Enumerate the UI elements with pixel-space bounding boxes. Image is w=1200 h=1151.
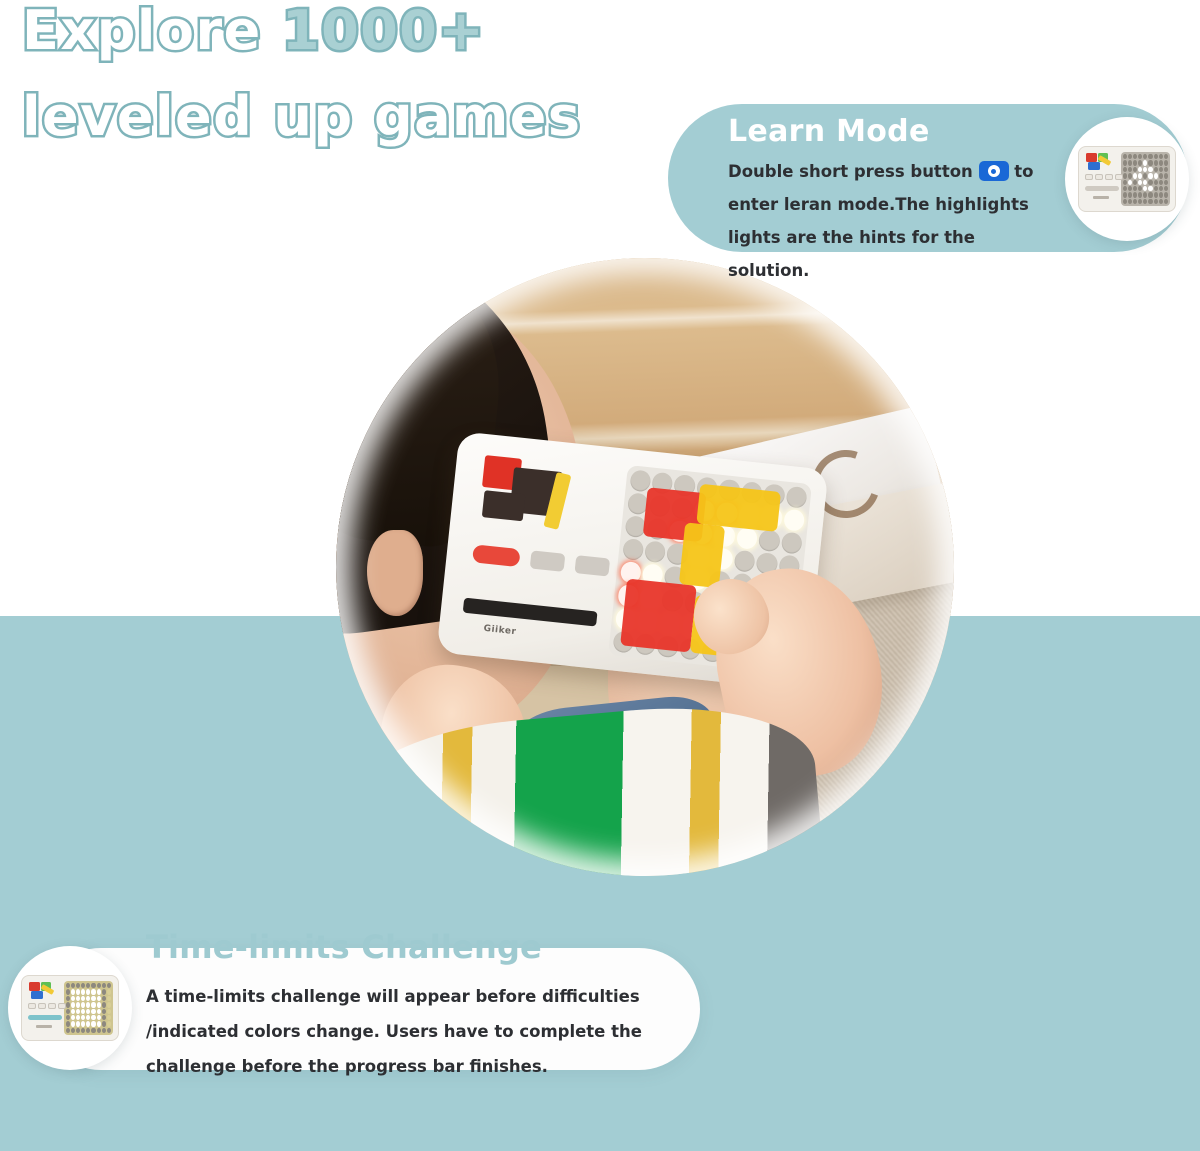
mini-device-keys: [28, 1003, 66, 1009]
device-logo-tiles: [476, 451, 606, 539]
mini-key: [1105, 174, 1113, 180]
mini-key: [28, 1003, 36, 1009]
mini-progress-bar: [28, 1015, 62, 1020]
circle-dot-icon: [979, 161, 1009, 181]
mini-key: [1085, 174, 1093, 180]
poster-stage: Explore 1000+ leveled up games: [0, 0, 1200, 1151]
headline-prefix: Explore: [22, 0, 282, 62]
device-buttons: [472, 544, 629, 578]
learn-mode-title: Learn Mode: [728, 114, 930, 149]
mini-key: [1115, 174, 1123, 180]
device-button-1: [529, 550, 565, 571]
puzzle-block-yellow-2: [679, 522, 726, 588]
hero-photo: Giiker: [336, 258, 954, 876]
device-brand-label: Giiker: [483, 624, 517, 637]
time-limits-body: A time-limits challenge will appear befo…: [146, 979, 646, 1084]
mini-key: [38, 1003, 46, 1009]
mini-logo-tiles: [1086, 153, 1116, 171]
device-power-button: [472, 544, 520, 567]
mini-tile-red: [1086, 153, 1097, 162]
learn-mode-device-badge: [1065, 117, 1189, 241]
handheld-puzzle-device-icon: [1078, 146, 1176, 212]
mini-device-left-panel: [27, 981, 60, 1035]
time-limits-title: Time-limits Challenge: [146, 928, 542, 966]
child-ear: [367, 530, 423, 617]
mini-key: [48, 1003, 56, 1009]
puzzle-block-red-2: [620, 578, 697, 652]
device-slot: [463, 597, 597, 626]
headline-line-2: leveled up games: [22, 88, 672, 146]
hero-photo-scene: Giiker: [336, 258, 954, 876]
learn-mode-body: Double short press button to enter leran…: [728, 155, 1058, 287]
mini-led-grid: [1121, 152, 1170, 206]
headline-line-1: Explore 1000+: [22, 2, 672, 60]
mini-device-left-panel: [1084, 152, 1117, 206]
mini-key: [1095, 174, 1103, 180]
mini-logo-tiles: [29, 982, 59, 1000]
time-limits-device-badge: [8, 946, 132, 1070]
mini-device-keys: [1085, 174, 1123, 180]
mini-key: [58, 1003, 66, 1009]
mini-device-brand: [36, 1025, 52, 1028]
headline-accent-number: 1000+: [282, 0, 485, 62]
mini-tile-blue: [31, 991, 43, 999]
mini-tile-red: [29, 982, 40, 991]
mini-device-brand: [1093, 196, 1109, 199]
learn-mode-body-part1: Double short press button: [728, 162, 979, 181]
mini-led-grid: [64, 981, 113, 1035]
device-button-2: [574, 555, 610, 576]
handheld-puzzle-device-icon: [21, 975, 119, 1041]
logo-tile-dark-2: [482, 489, 526, 520]
mini-device-slot: [1085, 186, 1119, 191]
mini-tile-blue: [1088, 162, 1100, 170]
headline: Explore 1000+ leveled up games: [22, 2, 672, 147]
